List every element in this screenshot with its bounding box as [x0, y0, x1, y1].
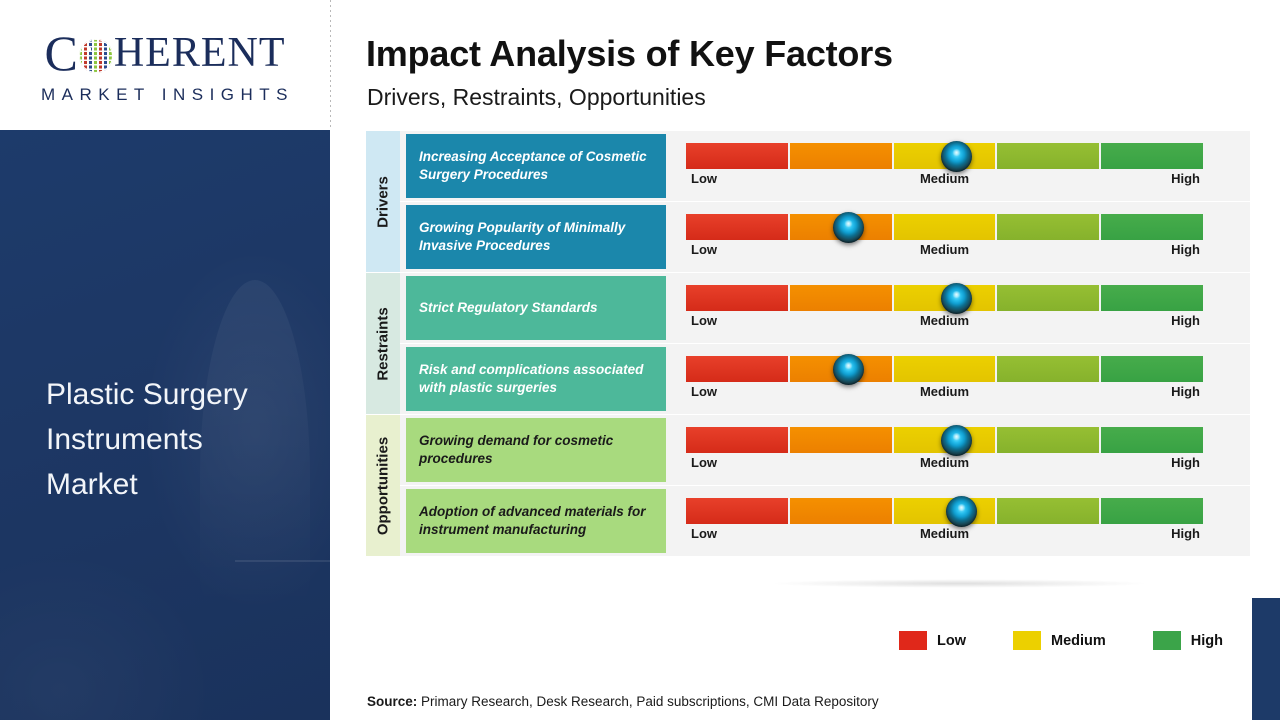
factor-label: Increasing Acceptance of Cosmetic Surger…: [419, 148, 653, 184]
factor-label: Risk and complications associated with p…: [419, 361, 653, 397]
category-label: Restraints: [375, 307, 392, 380]
source-line: Source: Primary Research, Desk Research,…: [367, 694, 879, 709]
legend-swatch: [1013, 631, 1041, 650]
scale-label-low: Low: [691, 171, 717, 186]
matrix-row: Risk and complications associated with p…: [366, 344, 1250, 414]
matrix-row: Growing Popularity of Minimally Invasive…: [366, 202, 1250, 272]
gauge-segment-1: [686, 214, 788, 240]
factor-box[interactable]: Risk and complications associated with p…: [406, 347, 666, 411]
gauge-scale-labels: LowMediumHigh: [686, 455, 1203, 477]
impact-marker[interactable]: [941, 425, 972, 456]
sidebar-dotted-divider: [330, 0, 331, 130]
factor-label: Growing demand for cosmetic procedures: [419, 432, 653, 468]
legend-label: Medium: [1051, 633, 1106, 649]
factor-box[interactable]: Adoption of advanced materials for instr…: [406, 489, 666, 553]
legend-swatch: [899, 631, 927, 650]
legend-swatch: [1153, 631, 1181, 650]
impact-marker[interactable]: [941, 141, 972, 172]
category-strip-restraints: Restraints: [366, 273, 400, 414]
gauge-segment-5: [1101, 356, 1203, 382]
impact-marker[interactable]: [833, 212, 864, 243]
gauge-segment-2: [790, 498, 892, 524]
page-subtitle: Drivers, Restraints, Opportunities: [367, 84, 706, 111]
impact-gauge: LowMediumHigh: [686, 344, 1226, 414]
legend-label: High: [1191, 633, 1223, 649]
gauge-segment-2: [790, 285, 892, 311]
category-label: Opportunities: [375, 436, 392, 534]
gauge-track: [686, 356, 1203, 382]
scale-label-low: Low: [691, 526, 717, 541]
gauge-segment-4: [997, 214, 1099, 240]
impact-marker[interactable]: [941, 283, 972, 314]
gauge-segment-3: [894, 214, 996, 240]
gauge-scale-labels: LowMediumHigh: [686, 242, 1203, 264]
logo-letter-c: C: [44, 28, 78, 78]
gauge-segment-4: [997, 498, 1099, 524]
gauge-scale-labels: LowMediumHigh: [686, 171, 1203, 193]
gauge-segment-5: [1101, 143, 1203, 169]
gauge-segment-4: [997, 143, 1099, 169]
gauge-segment-5: [1101, 427, 1203, 453]
factor-label: Growing Popularity of Minimally Invasive…: [419, 219, 653, 255]
legend-item: Low: [899, 631, 966, 650]
scale-label-low: Low: [691, 455, 717, 470]
factor-box[interactable]: Strict Regulatory Standards: [406, 276, 666, 340]
gauge-segment-1: [686, 143, 788, 169]
factor-box[interactable]: Increasing Acceptance of Cosmetic Surger…: [406, 134, 666, 198]
factor-label: Strict Regulatory Standards: [419, 299, 598, 317]
gauge-scale-labels: LowMediumHigh: [686, 526, 1203, 548]
report-title: Plastic Surgery Instruments Market: [46, 372, 296, 507]
gauge-segment-1: [686, 356, 788, 382]
factor-box[interactable]: Growing demand for cosmetic procedures: [406, 418, 666, 482]
gauge-segment-5: [1101, 214, 1203, 240]
matrix-row: DriversIncreasing Acceptance of Cosmetic…: [366, 131, 1250, 201]
legend-item: Medium: [1013, 631, 1106, 650]
scale-label-low: Low: [691, 242, 717, 257]
sidebar-panel: Plastic Surgery Instruments Market: [0, 130, 330, 720]
decorative-shadow-bar: [698, 578, 1221, 589]
globe-icon: [79, 39, 113, 73]
scale-label-medium: Medium: [920, 171, 969, 186]
logo-tagline: MARKET INSIGHTS: [8, 85, 322, 105]
gauge-scale-labels: LowMediumHigh: [686, 384, 1203, 406]
scale-label-medium: Medium: [920, 242, 969, 257]
legend-item: High: [1153, 631, 1223, 650]
source-text: Primary Research, Desk Research, Paid su…: [417, 694, 878, 709]
matrix-row: OpportunitiesGrowing demand for cosmetic…: [366, 415, 1250, 485]
impact-matrix: DriversIncreasing Acceptance of Cosmetic…: [366, 131, 1250, 557]
legend: LowMediumHigh: [899, 631, 1270, 650]
gauge-segment-4: [997, 356, 1099, 382]
impact-gauge: LowMediumHigh: [686, 415, 1226, 485]
gauge-segment-5: [1101, 285, 1203, 311]
gauge-segment-2: [790, 427, 892, 453]
scale-label-medium: Medium: [920, 455, 969, 470]
gauge-segment-1: [686, 498, 788, 524]
impact-marker[interactable]: [833, 354, 864, 385]
logo-area: C HERENT MARKET INSIGHTS: [0, 0, 330, 130]
gauge-segment-1: [686, 427, 788, 453]
corner-accent-bar: [1252, 598, 1280, 720]
scale-label-high: High: [1171, 455, 1200, 470]
scale-label-medium: Medium: [920, 384, 969, 399]
gauge-segment-4: [997, 427, 1099, 453]
gauge-segment-4: [997, 285, 1099, 311]
matrix-row: RestraintsStrict Regulatory StandardsLow…: [366, 273, 1250, 343]
left-panel: C HERENT MARKET INSIGHTS Plastic Surgery…: [0, 0, 330, 720]
legend-label: Low: [937, 633, 966, 649]
scale-label-medium: Medium: [920, 526, 969, 541]
impact-gauge: LowMediumHigh: [686, 131, 1226, 201]
gauge-segment-5: [1101, 498, 1203, 524]
company-logo: C HERENT MARKET INSIGHTS: [8, 28, 322, 105]
gauge-segment-1: [686, 285, 788, 311]
page-title: Impact Analysis of Key Factors: [366, 33, 893, 75]
scale-label-low: Low: [691, 313, 717, 328]
category-strip-opportunities: Opportunities: [366, 415, 400, 556]
source-label: Source:: [367, 694, 417, 709]
scale-label-high: High: [1171, 526, 1200, 541]
scale-label-low: Low: [691, 384, 717, 399]
logo-wordmark-rest: HERENT: [114, 32, 286, 74]
impact-gauge: LowMediumHigh: [686, 486, 1226, 556]
factor-box[interactable]: Growing Popularity of Minimally Invasive…: [406, 205, 666, 269]
gauge-track: [686, 498, 1203, 524]
gauge-segment-2: [790, 143, 892, 169]
scale-label-high: High: [1171, 171, 1200, 186]
scale-label-medium: Medium: [920, 313, 969, 328]
scale-label-high: High: [1171, 242, 1200, 257]
scale-label-high: High: [1171, 313, 1200, 328]
factor-label: Adoption of advanced materials for instr…: [419, 503, 653, 539]
category-strip-drivers: Drivers: [366, 131, 400, 272]
logo-wordmark: C HERENT: [8, 28, 322, 78]
gauge-scale-labels: LowMediumHigh: [686, 313, 1203, 335]
scale-label-high: High: [1171, 384, 1200, 399]
impact-gauge: LowMediumHigh: [686, 202, 1226, 272]
category-label: Drivers: [375, 176, 392, 228]
matrix-row: Adoption of advanced materials for instr…: [366, 486, 1250, 556]
gauge-track: [686, 214, 1203, 240]
gauge-segment-3: [894, 498, 996, 524]
impact-gauge: LowMediumHigh: [686, 273, 1226, 343]
gauge-segment-3: [894, 356, 996, 382]
